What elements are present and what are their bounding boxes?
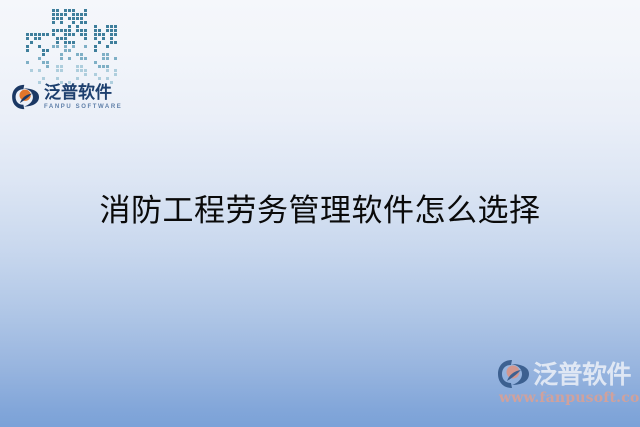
page-title: 消防工程劳务管理软件怎么选择: [0, 188, 640, 234]
fanpu-watermark-logo-mark: [498, 359, 530, 389]
brand-block: 泛普软件 FANPU SOFTWARE: [12, 14, 142, 114]
watermark-url: www.fanpusoft.com: [499, 390, 634, 406]
watermark: 泛普软件 www.fanpusoft.com: [498, 357, 634, 415]
fanpu-logo-words: 泛普软件 FANPU SOFTWARE: [44, 85, 122, 110]
skyline-tower-middle: [52, 9, 87, 84]
skyline-tower-right: [94, 25, 117, 84]
watermark-brand-name: 泛普软件: [533, 362, 631, 387]
fanpu-logo-lockup: 泛普软件 FANPU SOFTWARE: [12, 82, 122, 112]
pixel-skyline-graphic: [26, 14, 126, 84]
watermark-logo-row: 泛普软件: [498, 357, 634, 391]
fanpu-logo-mark: [12, 84, 40, 110]
skyline-tower-left: [26, 33, 49, 84]
brand-name-en: FANPU SOFTWARE: [44, 104, 122, 110]
slide-canvas: 泛普软件 FANPU SOFTWARE 消防工程劳务管理软件怎么选择 泛普软件 …: [0, 0, 640, 427]
brand-name-cn: 泛普软件: [44, 85, 122, 102]
